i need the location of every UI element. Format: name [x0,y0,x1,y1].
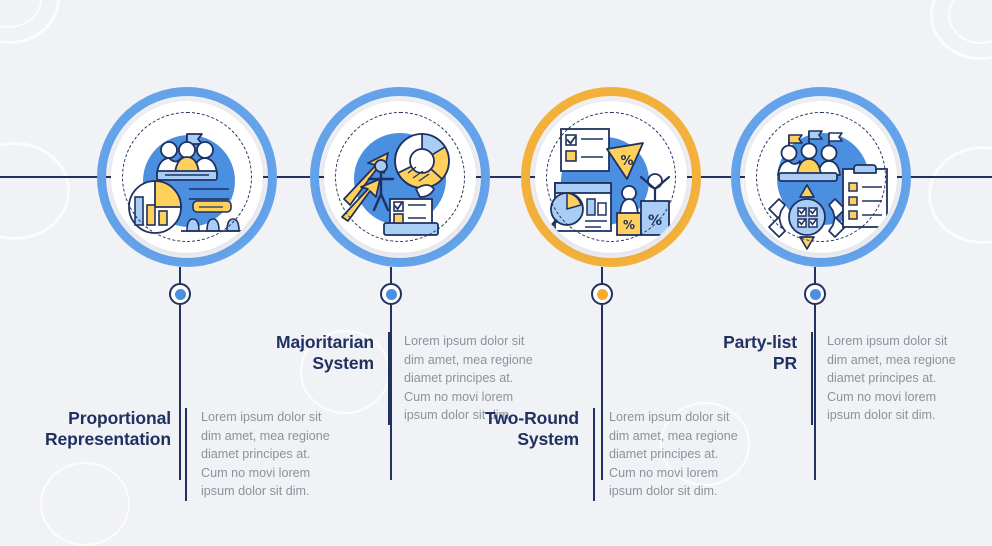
node-dashed-ring [335,112,465,242]
step-dot-majoritarian-system[interactable] [380,283,402,305]
step-text-party-list-pr: Party-list PR Lorem ipsum dolor sit dim … [668,332,986,425]
step-dot-proportional-representation[interactable] [169,283,191,305]
step-node-two-round-system[interactable]: % % % [521,87,701,267]
node-dashed-ring [122,112,252,242]
watermark-swirl [930,0,992,60]
step-description: Lorem ipsum dolor sit dim amet, mea regi… [813,332,965,425]
step-title: Proportional Representation [25,408,185,450]
step-dot-two-round-system[interactable] [591,283,613,305]
step-title: Party-list PR [668,332,811,374]
step-title: Two-Round System [448,408,593,450]
step-node-majoritarian-system[interactable] [310,87,490,267]
node-dashed-ring [546,112,676,242]
watermark-swirl [948,0,992,44]
watermark-swirl [0,142,70,240]
node-dashed-ring [756,112,886,242]
step-dot-party-list-pr[interactable] [804,283,826,305]
step-title: Majoritarian System [240,332,388,374]
watermark-swirl [928,146,992,244]
watermark-swirl [0,0,42,28]
watermark-swirl [0,0,60,44]
infographic-canvas: Proportional Representation Lorem ipsum … [0,0,992,531]
step-node-proportional-representation[interactable] [97,87,277,267]
step-node-party-list-pr[interactable] [731,87,911,267]
